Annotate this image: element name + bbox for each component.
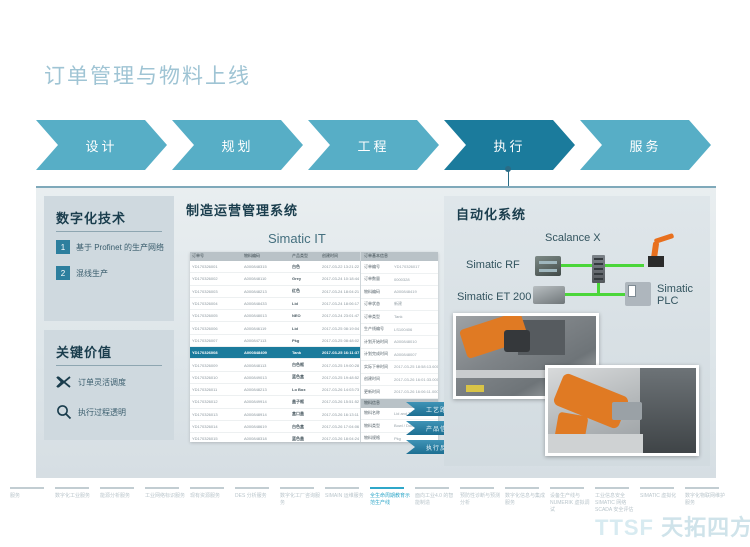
detail-row: 实际下单时间2017-03-25 18:58:13.600 [361,361,438,374]
detail-row: 更新时间2017-03-26 16:06:11.000 [361,386,438,399]
table-cell: A000849914 [242,399,290,404]
detail-key: 创建时间 [361,376,394,382]
device-simatic-rf [535,256,561,276]
footer-nav-label: 现有资源服务 [190,493,232,500]
watermark: TTSF 天拓四方 [595,510,750,542]
detail-key: 物料规格 [361,435,394,441]
column-header-material: 物料编码 [242,252,290,261]
table-cell: 盒口盖 [290,411,320,417]
value-item-label: 订单灵活调度 [78,377,126,388]
footer-nav-bar [370,487,404,489]
footer-nav-item[interactable]: 能源分析服务 [100,487,142,500]
table-cell: A000848409 [242,350,290,355]
footer-nav-bar [595,487,629,489]
detail-key: 物料编码 [361,289,394,295]
footer-nav-label: 数字化物联网维护服务 [685,493,727,507]
process-step-execution[interactable]: 执行 [444,120,575,170]
table-cell: YD170326001 [190,264,242,269]
detail-key: 订单状态 [361,301,394,307]
footer-nav-item[interactable]: 工业网络标识服务 [145,487,187,500]
table-cell: A000848110 [242,276,290,281]
table-cell: 2017-03-26 16:13:11 [320,412,360,417]
detail-rows-basic: 订单编号YD170326017订单数量0000328物料编码A000848419… [361,261,438,399]
footer-nav-bar [235,487,269,489]
footer-nav-label: SIMATIC 虚拟化 [640,493,682,500]
detail-row: 订单数量0000328 [361,274,438,287]
footer-nav-item[interactable]: 数字化信息与集成服务 [505,487,547,507]
table-cell: 蓝色盒 [290,374,320,380]
footer-nav-label: 设备生产线与NUMERIK 虚拟调试 [550,493,592,514]
table-cell: 白色框 [290,362,320,368]
table-cell: 2017-03-24 18:04:21 [320,289,360,294]
table-cell: 2017-03-25 16:11:37 [320,350,360,355]
tech-item-label: 混线生产 [76,268,108,279]
process-chevron-bar: 设计 规划 工程 执行 服务 [36,120,716,170]
footer-nav-bar [640,487,674,489]
table-cell: A000848113 [242,363,290,368]
table-row[interactable]: YD170326012A000849914盖子框2017-03-26 15:51… [190,396,360,408]
detail-key: 生产线编号 [361,326,394,332]
tech-item-number: 2 [56,266,70,280]
footer-nav-label: 数字化信息与集成服务 [505,493,547,507]
table-row[interactable]: YD170326009A000848113白色框2017-03-25 19:00… [190,359,360,371]
label-scalance-x: Scalance X [545,232,601,244]
table-row[interactable]: YD170326005A000848013NEO2017-03-24 23:01… [190,310,360,322]
table-cell: A000848013 [242,313,290,318]
table-row[interactable]: YD170326004A000848433Lid2017-03-24 18:06… [190,298,360,310]
digital-technology-title: 数字化技术 [44,196,174,231]
order-table[interactable]: 订单号 物料编码 产品类型 创建时间 YD170326001A000848315… [190,252,361,442]
detail-value: 0000328 [394,277,438,282]
slide-root: 订单管理与物料上线 设计 规划 工程 执行 服务 数字化技术 1 基于 Prof… [0,0,750,547]
detail-row: 订单状态新建 [361,299,438,312]
value-item[interactable]: 执行过程透明 [56,404,174,420]
table-cell: YD170326014 [190,424,242,429]
footer-nav-item[interactable]: 数字化工厂咨询服务 [280,487,322,507]
footer-nav-item[interactable]: DES 分析服务 [235,487,277,500]
label-simatic-plc: Simatic PLC [657,283,693,307]
detail-value: LS100406 [394,327,438,332]
process-step-service[interactable]: 服务 [580,120,711,170]
tech-item[interactable]: 2 混线生产 [56,266,174,280]
table-cell: 2017-03-25 08:19:04 [320,326,360,331]
table-row[interactable]: YD170326011A000848213Lo Box2017-03-26 14… [190,384,360,396]
mom-title: 制造运营管理系统 [186,200,298,219]
table-cell: Lid [290,301,320,306]
table-row[interactable]: YD170326001A000848315白色2017-03-22 13:21:… [190,261,360,273]
table-cell: 2017-03-26 18:04:24 [320,436,360,441]
footer-nav-label: 预防性诊断与预测分析 [460,493,502,507]
footer-nav-bar [685,487,719,489]
process-step-label: 服务 [629,136,661,155]
table-row[interactable]: YD170326014A000848619白色盒2017-03-26 17:04… [190,421,360,433]
process-step-label: 执行 [493,136,525,155]
footer-nav-label: 能源分析服务 [100,493,142,500]
table-row[interactable]: YD170326002A000848110Grey2017-03-24 10:1… [190,273,360,285]
detail-key: 计划完成时间 [361,351,394,357]
table-cell: 蓝色盖 [290,436,320,442]
table-cell: YD170326011 [190,387,242,392]
label-simatic-et200: Simatic ET 200 [457,291,531,303]
table-cell: YD170326012 [190,399,242,404]
process-step-label: 设计 [85,136,117,155]
footer-nav-label: DES 分析服务 [235,493,277,500]
table-cell: YD170326013 [190,412,242,417]
automation-title: 自动化系统 [456,204,526,223]
detail-row: 物料编码A000848419 [361,286,438,299]
table-row[interactable]: YD170326010A000849013蓝色盒2017-03-25 19:48… [190,372,360,384]
divider [56,365,162,366]
table-row[interactable]: YD170326007A000847113Pkg2017-03-25 08:48… [190,335,360,347]
detail-key: 更新时间 [361,389,394,395]
table-cell: 2017-03-25 19:48:52 [320,375,360,380]
table-row[interactable]: YD170326003A000848213红色2017-03-24 18:04:… [190,286,360,298]
table-cell: 2017-03-25 19:00:28 [320,363,360,368]
column-header-order-id: 订单号 [190,252,242,261]
footer-nav-bar [145,487,179,489]
footer-nav-item[interactable]: 预防性诊断与预测分析 [460,487,502,507]
table-cell: 2017-03-24 10:18:44 [320,276,360,281]
table-cell: A000848315 [242,264,290,269]
table-cell: 2017-03-26 15:51:52 [320,399,360,404]
detail-key: 物料类型 [361,423,394,429]
footer-nav-bar [460,487,494,489]
detail-value: 2017-03-26 16:06:11.000 [394,389,438,394]
network-link-switch-robot [604,264,644,267]
robot-arm-icon [640,232,674,268]
divider [56,231,162,232]
footer-nav-bar [280,487,314,489]
detail-value: 2017-03-26 16:01:33.000 [394,377,438,382]
label-simatic-plc-line2: PLC [657,295,693,307]
footer-nav-bar [55,487,89,489]
footer-nav-label: 全生命周期教育示范生产线 [370,493,412,507]
footer-nav-bar [415,487,449,489]
key-value-card: 关键价值 订单灵活调度 执行过程透明 [44,330,174,440]
table-row[interactable]: YD170326006A000846119Lid2017-03-25 08:19… [190,322,360,334]
footer-nav-item[interactable]: SIMAIN 运维服务 [325,487,367,500]
table-cell: Tank [290,350,320,355]
footer-nav-label: 数字化工厂咨询服务 [280,493,322,507]
digital-technology-card: 数字化技术 1 基于 Profinet 的生产网络 2 混线生产 [44,196,174,321]
process-step-engineering[interactable]: 工程 [308,120,439,170]
key-value-title: 关键价值 [44,330,174,365]
process-step-label: 工程 [357,136,389,155]
detail-row: 订单编号YD170326017 [361,261,438,274]
table-cell: Pkg [290,338,320,343]
detail-row: 生产线编号LS100406 [361,324,438,337]
network-link-rf-switch [561,264,593,267]
footer-nav-item[interactable]: 数字化工业服务 [55,487,97,500]
tech-item-label: 基于 Profinet 的生产网络 [76,242,164,253]
tech-item[interactable]: 1 基于 Profinet 的生产网络 [56,240,174,254]
table-cell: A000849013 [242,375,290,380]
footer-nav-item[interactable]: 设备生产线与NUMERIK 虚拟调试 [550,487,592,514]
table-cell: A000848318 [242,436,290,441]
value-item-label: 执行过程透明 [78,407,126,418]
detail-value: A000848007 [394,352,438,357]
table-cell: Grey [290,276,320,281]
table-cell: 2017-03-25 08:48:02 [320,338,360,343]
table-cell: A000848433 [242,301,290,306]
footer-nav-label: SIMAIN 运维服务 [325,493,367,500]
table-row[interactable]: YD170326015A000848318蓝色盖2017-03-26 18:04… [190,433,360,442]
table-cell: A000847113 [242,338,290,343]
device-simatic-plc [625,282,651,306]
table-cell: A000848914 [242,412,290,417]
footer-nav-item[interactable]: 现有资源服务 [190,487,232,500]
process-step-design[interactable]: 设计 [36,120,167,170]
footer-nav-label: 面向工业4.0 的智能制造 [415,493,457,507]
table-cell: YD170326015 [190,436,242,441]
detail-row: 计划开始时间A000848010 [361,336,438,349]
shuffle-icon [56,374,72,390]
table-cell: YD170326007 [190,338,242,343]
footer-nav-bar [10,487,44,489]
table-cell: YD170326002 [190,276,242,281]
detail-value: YD170326017 [394,264,438,269]
detail-key: 订单数量 [361,276,394,282]
column-header-type: 产品类型 [290,252,320,261]
order-table-body: YD170326001A000848315白色2017-03-22 13:21:… [190,261,360,442]
watermark-name: 天拓四方 [661,515,750,540]
detail-key: 订单编号 [361,264,394,270]
table-cell: 2017-03-26 14:03:73 [320,387,360,392]
detail-section-title-basic: 订单基本信息 [361,252,438,261]
table-cell: 2017-03-22 13:21:22 [320,264,360,269]
detail-key: 订单类型 [361,314,394,320]
table-row[interactable]: YD170326013A000848914盒口盖2017-03-26 16:13… [190,409,360,421]
order-table-header: 订单号 物料编码 产品类型 创建时间 [190,252,360,261]
process-connector-dot [505,166,511,172]
table-cell: 2017-03-24 18:06:17 [320,301,360,306]
detail-key: 物料名称 [361,410,394,416]
footer-nav-bar [550,487,584,489]
table-cell: YD170326009 [190,363,242,368]
detail-key: 实际下单时间 [361,364,394,370]
footer-nav-label: 服务 [10,493,52,500]
detail-value: A000848010 [394,339,438,344]
magnifier-icon [56,404,72,420]
tech-item-number: 1 [56,240,70,254]
detail-value: Tank [394,314,438,319]
network-link-et200-switch [565,293,597,296]
photo-robot-cell [545,365,699,456]
detail-value: A000848419 [394,289,438,294]
table-cell: 2017-03-26 17:04:06 [320,424,360,429]
table-cell: 2017-03-24 23:01:47 [320,313,360,318]
page-title: 订单管理与物料上线 [44,60,251,90]
footer-nav-item[interactable]: 面向工业4.0 的智能制造 [415,487,457,507]
simatic-it-screenshot[interactable]: 订单号 物料编码 产品类型 创建时间 YD170326001A000848315… [190,252,438,442]
table-row[interactable]: YD170326008A000848409Tank2017-03-25 16:1… [190,347,360,359]
table-cell: A000848619 [242,424,290,429]
process-step-planning[interactable]: 规划 [172,120,303,170]
table-cell: YD170326003 [190,289,242,294]
table-cell: Lid [290,326,320,331]
table-cell: A000848213 [242,387,290,392]
table-cell: A000846119 [242,326,290,331]
table-cell: YD170326005 [190,313,242,318]
footer-nav-bar [505,487,539,489]
column-header-created: 创建时间 [320,252,360,261]
detail-row: 订单类型Tank [361,311,438,324]
label-simatic-rf: Simatic RF [466,259,520,271]
footer-nav-item[interactable]: 数字化物联网维护服务 [685,487,727,507]
detail-value: 新建 [394,301,438,307]
detail-value: 2017-03-25 18:58:13.600 [394,364,438,369]
process-step-label: 规划 [221,136,253,155]
footer-nav-label: 数字化工业服务 [55,493,97,500]
footer-nav-label: 工业网络标识服务 [145,493,187,500]
table-cell: YD170326006 [190,326,242,331]
footer-nav-bar [325,487,359,489]
value-item[interactable]: 订单灵活调度 [56,374,174,390]
footer-nav-item[interactable]: 全生命周期教育示范生产线 [370,487,412,507]
watermark-brand: TTSF [595,515,654,540]
table-cell: Lo Box [290,387,320,392]
footer-nav-bar [100,487,134,489]
table-cell: NEO [290,313,320,318]
device-simatic-et200 [533,286,565,304]
table-cell: 红色 [290,288,320,294]
detail-row: 创建时间2017-03-26 16:01:33.000 [361,374,438,387]
footer-nav-item[interactable]: SIMATIC 虚拟化 [640,487,682,500]
mom-subtitle: Simatic IT [268,231,326,246]
table-cell: 白色 [290,264,320,270]
device-scalance-switch [592,255,605,283]
footer-nav-item[interactable]: 服务 [10,487,52,500]
table-cell: A000848213 [242,289,290,294]
table-cell: 白色盒 [290,424,320,430]
detail-key: 计划开始时间 [361,339,394,345]
table-cell: YD170326010 [190,375,242,380]
table-cell: YD170326004 [190,301,242,306]
detail-row: 计划完成时间A000848007 [361,349,438,362]
footer-nav-bar [190,487,224,489]
table-cell: 盖子框 [290,399,320,405]
label-simatic-plc-line1: Simatic [657,283,693,295]
table-cell: YD170326008 [190,350,242,355]
